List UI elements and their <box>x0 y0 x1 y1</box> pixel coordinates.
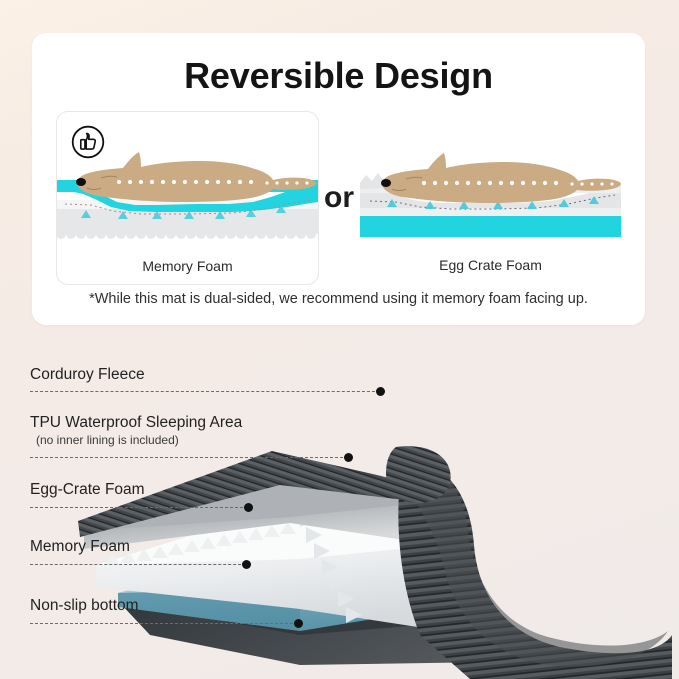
callout-non-slip-bottom: Non-slip bottom <box>30 596 139 615</box>
panel-caption-memory-foam: Memory Foam <box>57 258 318 274</box>
thumbs-up-icon <box>70 124 106 160</box>
callout-tpu-waterproof: TPU Waterproof Sleeping Area (no inner l… <box>30 413 242 447</box>
leader-line-corduroy-fleece <box>30 391 380 393</box>
leader-dot-corduroy-fleece <box>376 387 385 396</box>
panel-egg-crate-foam: Egg Crate Foam <box>360 111 621 283</box>
leader-dot-non-slip-bottom <box>294 619 303 628</box>
leader-dot-tpu-waterproof <box>344 453 353 462</box>
footnote-text: *While this mat is dual-sided, we recomm… <box>32 291 645 307</box>
reversible-design-card: Reversible Design <box>32 33 645 325</box>
panel-caption-egg-crate-foam: Egg Crate Foam <box>360 257 621 273</box>
leader-line-tpu-waterproof <box>30 457 348 459</box>
leader-dot-egg-crate-foam <box>244 503 253 512</box>
or-divider-label: or <box>318 181 360 215</box>
callout-egg-crate-foam: Egg-Crate Foam <box>30 480 145 499</box>
leader-line-memory-foam <box>30 564 246 566</box>
callout-corduroy-fleece: Corduroy Fleece <box>30 365 145 384</box>
callout-memory-foam: Memory Foam <box>30 537 130 556</box>
egg-crate-foam-illustration <box>360 111 621 259</box>
page-title: Reversible Design <box>32 55 645 97</box>
leader-dot-memory-foam <box>242 560 251 569</box>
panel-memory-foam: Memory Foam <box>56 111 319 285</box>
leader-line-non-slip-bottom <box>30 623 298 625</box>
layer-callouts-section: Corduroy Fleece TPU Waterproof Sleeping … <box>0 335 679 679</box>
leader-line-egg-crate-foam <box>30 507 248 509</box>
